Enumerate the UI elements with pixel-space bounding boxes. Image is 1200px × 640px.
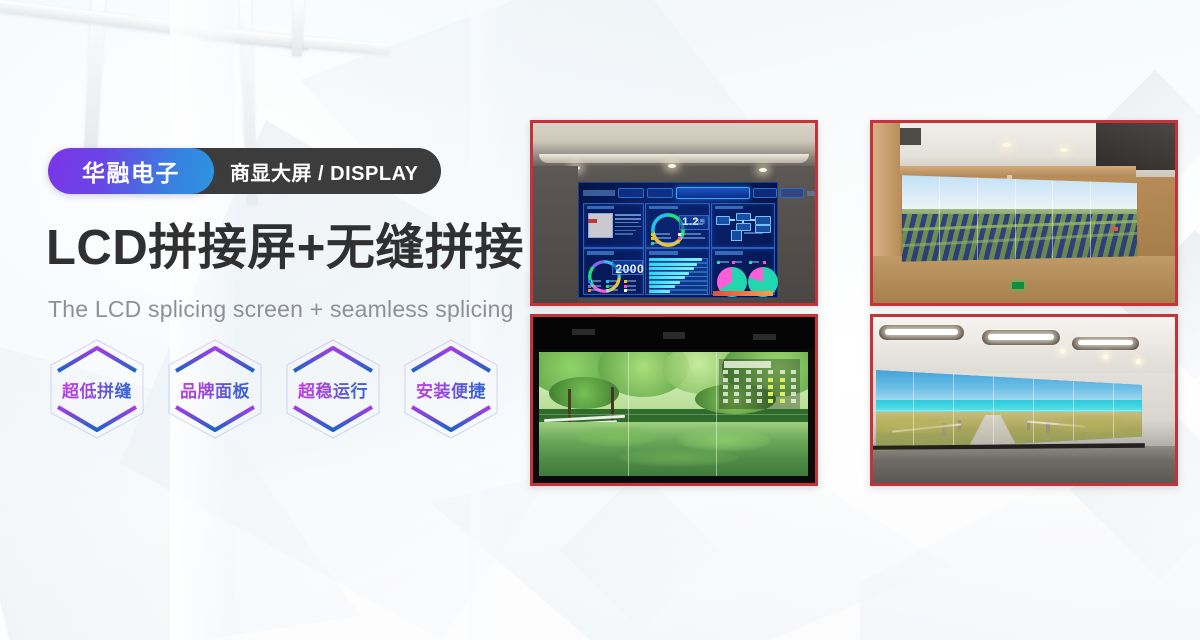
ceiling-spotlight [1060, 349, 1065, 354]
feature-item-0: 超低拼缝 [48, 336, 146, 442]
calendar-day [791, 378, 796, 382]
calendar-day [791, 399, 796, 403]
bar [649, 285, 674, 288]
calendar-day [746, 399, 751, 403]
calendar-header [724, 361, 771, 367]
legend-text [735, 261, 742, 263]
bar [649, 290, 669, 293]
calendar-day [746, 392, 751, 396]
calendar-day-highlight [780, 385, 785, 389]
dashboard-title-bar [676, 187, 750, 198]
photo-garden-lake-video-wall [530, 314, 818, 486]
card-title [649, 206, 677, 209]
ceiling-light [1003, 143, 1011, 147]
photo-content [873, 123, 1175, 303]
video-wall-screen [902, 172, 1138, 262]
calendar-day [757, 385, 762, 389]
screen-seam [939, 172, 940, 262]
screen-foliage [549, 377, 619, 409]
calendar-day [757, 378, 762, 382]
bar [649, 281, 679, 284]
ceiling-lightbar [988, 334, 1054, 341]
calendar-day [757, 392, 762, 396]
beam-vertical-3 [292, 0, 304, 56]
photo-solar-farm-video-wall [870, 120, 1178, 306]
feature-label: 超稳运行 [298, 377, 368, 402]
feature-item-1: 品牌面板 [166, 336, 264, 442]
screen-seam [977, 172, 978, 262]
calendar-day [723, 399, 728, 403]
feature-label: 品牌面板 [180, 377, 250, 402]
feature-item-2: 超稳运行 [284, 336, 382, 442]
card-title [649, 251, 677, 255]
legend-text [609, 280, 618, 282]
calendar-day [723, 378, 728, 382]
dashboard-topbar [583, 187, 773, 199]
calendar-day [757, 399, 762, 403]
calendar-day-highlight [768, 378, 773, 382]
dashboard-card-piecharts [711, 248, 774, 295]
bar [649, 272, 688, 275]
legend-text [654, 233, 669, 235]
dashboard-card-flow [711, 203, 774, 248]
dashboard-tab [753, 188, 777, 198]
legend-text [591, 285, 600, 287]
legend-text [627, 289, 636, 291]
room-floor [873, 446, 1175, 483]
calendar-day [746, 385, 751, 389]
ceiling-light [759, 168, 767, 172]
screen-seam [1090, 172, 1091, 262]
ceiling-lightbar [1078, 340, 1132, 345]
card-title [587, 251, 614, 255]
dashboard-card-barchart [645, 248, 710, 295]
feature-item-3: 安装便捷 [402, 336, 500, 442]
legend-text [654, 237, 670, 239]
photo-content: 1.2 万吨 [533, 123, 815, 303]
legend-text [627, 285, 636, 287]
ceiling-spotlight [1136, 359, 1141, 364]
dashboard-tab [780, 188, 804, 198]
calendar-weekday [746, 370, 751, 374]
brand-badge-group: 华融电子 商显大屏 / DISPLAY [48, 148, 441, 194]
subheadline: The LCD splicing screen + seamless splic… [48, 296, 514, 323]
calendar-day [734, 385, 739, 389]
screen-calendar-overlay [719, 359, 800, 409]
ceiling-dark-panel [1096, 123, 1175, 170]
ceiling-spotlight [1103, 354, 1108, 359]
calendar-day [723, 392, 728, 396]
photo-dashboard-video-wall: 1.2 万吨 [530, 120, 818, 306]
flow-connector [729, 219, 735, 221]
screen-seam [1052, 172, 1053, 262]
legend-text [720, 261, 729, 263]
calendar-day [791, 392, 796, 396]
dashboard-card-kpi: 1.2 万吨 [645, 203, 710, 248]
calendar-day-highlight [768, 392, 773, 396]
bar [649, 267, 693, 270]
ceiling-cove [539, 154, 810, 163]
legend-text [752, 261, 759, 263]
legend-text [609, 285, 618, 287]
feature-label: 超低拼缝 [62, 377, 132, 402]
photo-content [873, 317, 1175, 483]
brand-badge: 华融电子 [48, 148, 214, 194]
video-wall-screen [539, 352, 808, 477]
dashboard-card-secondary: 2000 [583, 248, 644, 295]
photo-beach-boardwalk-video-wall [870, 314, 1178, 486]
legend-text [681, 233, 701, 235]
calendar-day-highlight [768, 399, 773, 403]
card-title [715, 251, 743, 255]
calendar-day-highlight [780, 378, 785, 382]
calendar-day [734, 378, 739, 382]
flow-connector [750, 219, 755, 221]
product-banner: 华融电子 商显大屏 / DISPLAY LCD拼接屏+无缝拼接 The LCD … [0, 0, 1200, 640]
screen-seam [1015, 172, 1016, 262]
calendar-weekday [734, 370, 739, 374]
dashboard-tab [647, 188, 673, 198]
photo-content [533, 317, 815, 483]
exit-sign-icon [1012, 282, 1024, 289]
legend-text [681, 237, 705, 239]
dashboard-tab [618, 188, 644, 198]
wall-panel-left [533, 166, 578, 303]
legend-dot [763, 261, 766, 264]
calendar-day [791, 385, 796, 389]
legend-text [654, 242, 679, 244]
feature-list: 超低拼缝 品牌面板 超稳运行 安装便捷 [48, 336, 500, 442]
calendar-day [734, 392, 739, 396]
calendar-weekday [768, 370, 773, 374]
video-wall-screen: 1.2 万吨 [578, 182, 777, 297]
dashboard-card-intro [583, 203, 644, 248]
legend-text [591, 289, 600, 291]
wall-base-panel [873, 256, 1175, 303]
calendar-day [734, 399, 739, 403]
bar [649, 276, 684, 279]
calendar-weekday [757, 370, 762, 374]
calendar-weekday [780, 370, 785, 374]
card-title [715, 206, 743, 209]
calendar-day [746, 378, 751, 382]
wall-panel-right [776, 166, 815, 303]
headline: LCD拼接屏+无缝拼接 [46, 222, 524, 276]
flow-connector [742, 220, 744, 223]
calendar-day-highlight [768, 385, 773, 389]
bar [649, 258, 702, 261]
feature-label: 安装便捷 [416, 377, 486, 402]
calendar-day-highlight [780, 392, 785, 396]
legend-text [627, 280, 636, 282]
card-title [587, 206, 614, 209]
legend-text [591, 280, 600, 282]
calendar-day [723, 385, 728, 389]
flow-node [755, 216, 770, 225]
calendar-day-highlight [780, 399, 785, 403]
calendar-weekday [723, 370, 728, 374]
calendar-weekday [791, 370, 796, 374]
bar [649, 263, 697, 266]
ceiling-lightbar [885, 329, 957, 336]
legend-text [609, 289, 618, 291]
